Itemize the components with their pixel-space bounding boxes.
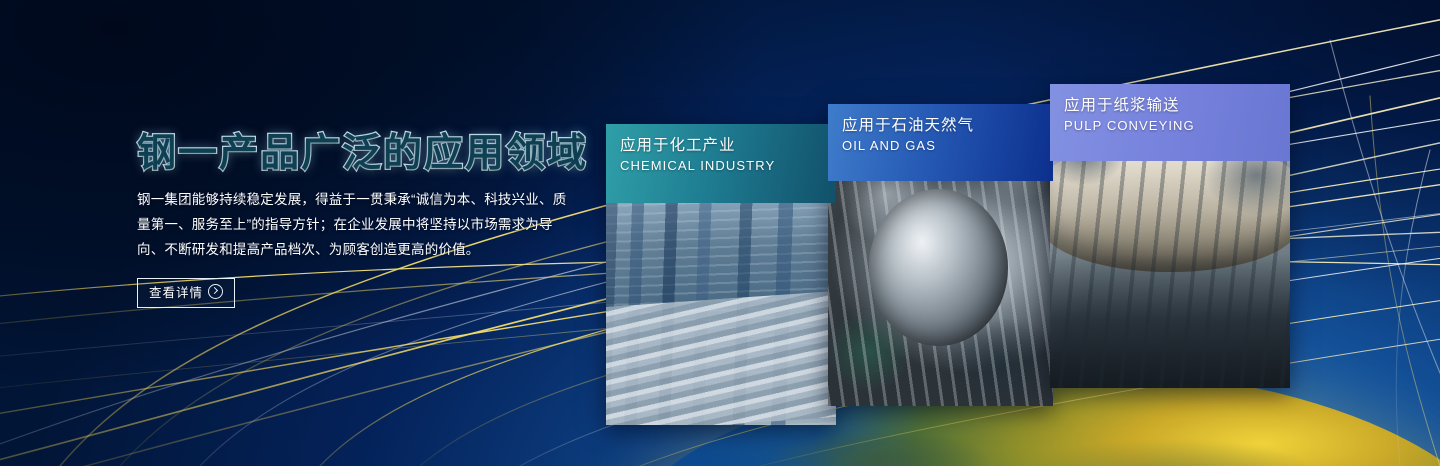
view-details-label: 查看详情 xyxy=(149,286,203,300)
card-title-cn: 应用于化工产业 xyxy=(620,135,836,157)
chevron-right-circle-icon xyxy=(208,284,223,299)
card-title-cn: 应用于石油天然气 xyxy=(842,115,1053,137)
application-card-chemical[interactable]: 应用于化工产业 CHEMICAL INDUSTRY xyxy=(606,124,836,425)
card-label-pulp-conveying: 应用于纸浆输送 PULP CONVEYING xyxy=(1050,84,1290,161)
card-title-en: OIL AND GAS xyxy=(842,137,1053,155)
card-title-en: PULP CONVEYING xyxy=(1064,117,1290,135)
card-title-cn: 应用于纸浆输送 xyxy=(1064,95,1290,117)
card-label-oil-and-gas: 应用于石油天然气 OIL AND GAS xyxy=(828,104,1053,181)
card-label-chemical: 应用于化工产业 CHEMICAL INDUSTRY xyxy=(606,124,836,203)
card-title-en: CHEMICAL INDUSTRY xyxy=(620,157,836,175)
hero-banner: 钢一产品广泛的应用领域 钢一集团能够持续稳定发展，得益于一贯秉承“诚信为本、科技… xyxy=(0,0,1440,466)
application-card-oil-and-gas[interactable]: 应用于石油天然气 OIL AND GAS xyxy=(828,104,1053,406)
hero-copy-block: 钢一产品广泛的应用领域 钢一集团能够持续稳定发展，得益于一贯秉承“诚信为本、科技… xyxy=(137,133,597,308)
page-title: 钢一产品广泛的应用领域 xyxy=(137,133,597,175)
view-details-button[interactable]: 查看详情 xyxy=(137,278,235,308)
application-card-pulp-conveying[interactable]: 应用于纸浆输送 PULP CONVEYING xyxy=(1050,84,1290,388)
hero-description: 钢一集团能够持续稳定发展，得益于一贯秉承“诚信为本、科技兴业、质量第一、服务至上… xyxy=(137,187,577,262)
